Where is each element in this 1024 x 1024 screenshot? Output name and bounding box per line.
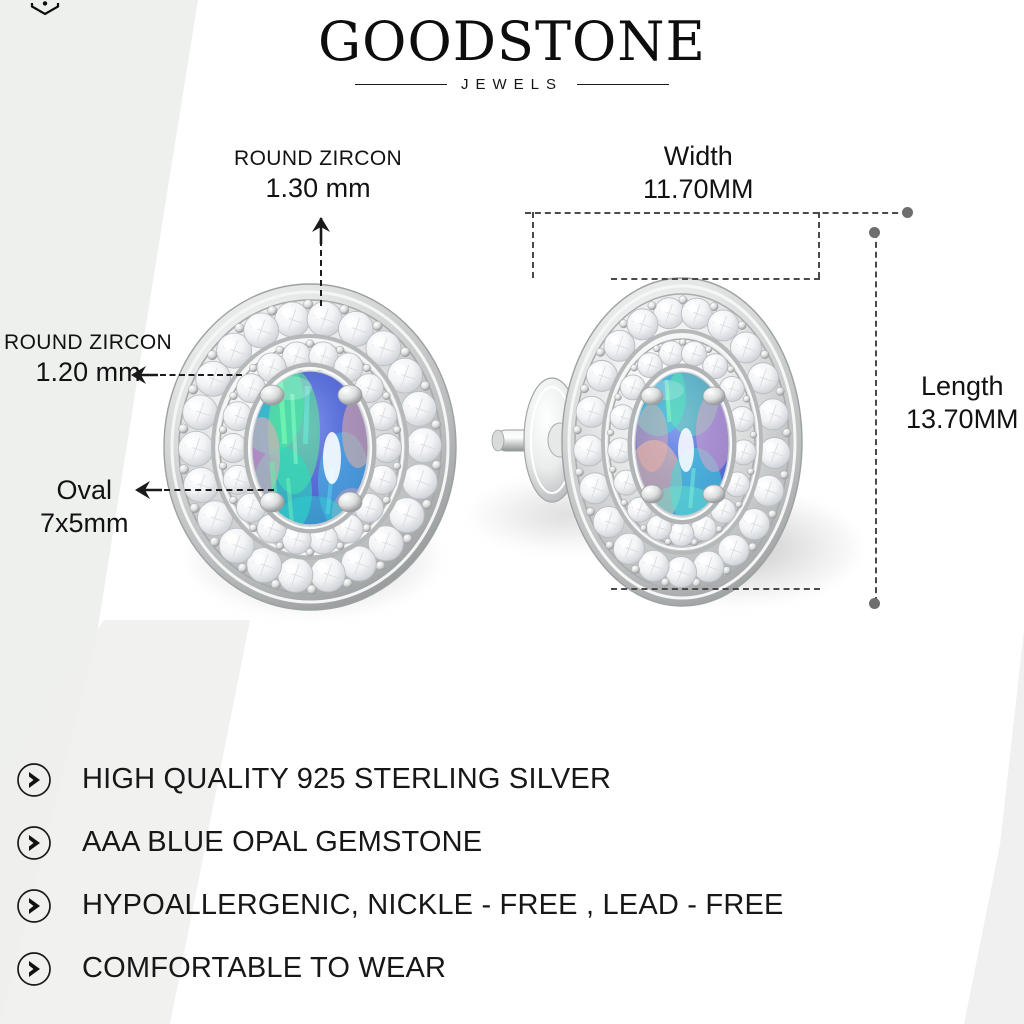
dimension-value: 11.70MM (643, 173, 754, 206)
dimension-tick-width-left (532, 212, 534, 278)
annotation-oval-size: Oval 7x5mm (40, 474, 129, 540)
feature-list: HIGH QUALITY 925 STERLING SILVER AAA BLU… (8, 748, 1008, 1000)
brand-wordmark: GOODSTONE (318, 14, 706, 69)
dimension-guide-head-right (818, 212, 820, 278)
dimension-dot-width-right (902, 207, 913, 218)
arrow-up-icon (308, 216, 334, 246)
dimension-label-length: Length 13.70MM (906, 370, 1019, 436)
earring-side-view (486, 272, 830, 612)
dimension-label-width: Width 11.70MM (643, 140, 754, 206)
dimension-guide-head-top (611, 278, 820, 280)
list-item: HIGH QUALITY 925 STERLING SILVER (8, 748, 1008, 811)
arrow-left-icon-oval (134, 477, 164, 503)
earring-front-view (162, 282, 458, 612)
list-item: COMFORTABLE TO WEAR (8, 937, 1008, 1000)
annotation-title: ROUND ZIRCON (4, 330, 172, 356)
feature-text: HYPOALLERGENIC, NICKLE - FREE , LEAD - F… (82, 889, 784, 922)
arrow-left-icon-zircon (130, 362, 160, 388)
chevron-circle-icon (16, 762, 52, 798)
annotation-value: 7x5mm (40, 507, 129, 540)
annotation-title: ROUND ZIRCON (234, 146, 402, 172)
feature-text: COMFORTABLE TO WEAR (82, 952, 446, 985)
logo-rule-right (577, 84, 669, 85)
leader-line-oval (164, 489, 274, 491)
chevron-circle-icon (16, 888, 52, 924)
annotation-title: Oval (40, 474, 129, 507)
infographic-canvas: GOODSTONE JEWELS (0, 0, 1024, 1024)
chevron-circle-icon (16, 825, 52, 861)
feature-text: HIGH QUALITY 925 STERLING SILVER (82, 763, 611, 796)
annotation-round-zircon-130: ROUND ZIRCON 1.30 mm (234, 146, 402, 205)
brand-logo: GOODSTONE JEWELS (0, 14, 1024, 93)
brand-sub: JEWELS (0, 76, 1024, 93)
dimension-dot-length-top (869, 227, 880, 238)
dimension-title: Width (643, 140, 754, 173)
annotation-value: 1.30 mm (234, 172, 402, 205)
brand-subtext: JEWELS (461, 76, 563, 93)
chevron-circle-icon (16, 951, 52, 987)
list-item: AAA BLUE OPAL GEMSTONE (8, 811, 1008, 874)
dimension-value: 13.70MM (906, 403, 1019, 436)
crown-icon (30, 1, 60, 16)
dimension-title: Length (906, 370, 1019, 403)
leader-line-left-zircon (160, 374, 242, 376)
list-item: HYPOALLERGENIC, NICKLE - FREE , LEAD - F… (8, 874, 1008, 937)
feature-text: AAA BLUE OPAL GEMSTONE (82, 826, 482, 859)
dimension-dot-length-bottom (869, 598, 880, 609)
logo-rule-left (355, 84, 447, 85)
dimension-guide-head-bottom (611, 588, 820, 590)
leader-line-top-zircon (320, 240, 322, 306)
dimension-line-length (875, 232, 877, 603)
dimension-line-width (525, 212, 908, 214)
